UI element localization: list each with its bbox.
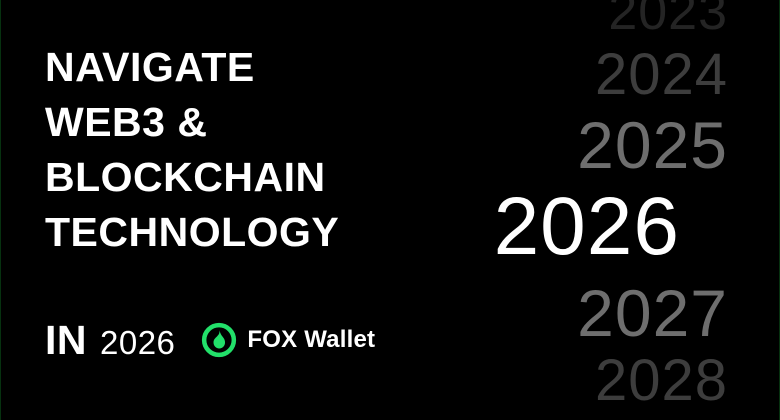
- brand-lockup[interactable]: FOX Wallet: [201, 322, 375, 358]
- headline-line-1: NAVIGATE: [45, 40, 465, 95]
- years-column: 2023 2024 2025 2026 2027 2028 2029: [428, 0, 728, 420]
- tagline-row: IN 2026 FOX Wallet: [45, 314, 375, 366]
- year-2029: 2029: [608, 414, 728, 420]
- promo-banner: NAVIGATE WEB3 & BLOCKCHAIN TECHNOLOGY IN…: [0, 0, 780, 420]
- headline-line-3: BLOCKCHAIN: [45, 150, 465, 205]
- headline-block: NAVIGATE WEB3 & BLOCKCHAIN TECHNOLOGY: [45, 40, 465, 260]
- tagline-year: 2026: [100, 326, 175, 359]
- headline-line-2: WEB3 &: [45, 95, 465, 150]
- fox-wallet-flame-ring-icon: [201, 322, 237, 358]
- left-edge-line: [0, 0, 1, 420]
- year-2023: 2023: [608, 0, 728, 38]
- year-2025: 2025: [577, 112, 728, 178]
- year-2026-highlight: 2026: [494, 186, 680, 268]
- year-2024: 2024: [595, 46, 728, 104]
- tagline-prefix: IN: [45, 320, 87, 361]
- headline-line-4: TECHNOLOGY: [45, 205, 465, 260]
- year-2027: 2027: [577, 280, 728, 346]
- year-2028: 2028: [595, 352, 728, 410]
- brand-name: FOX Wallet: [247, 328, 375, 352]
